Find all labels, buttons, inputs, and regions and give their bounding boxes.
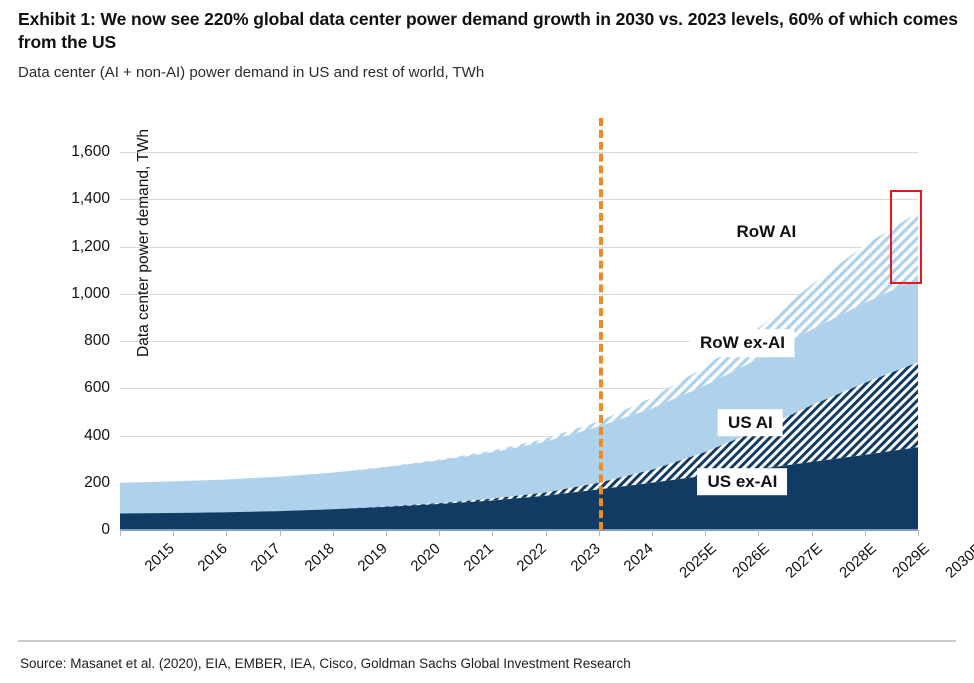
x-tick-label: 2017	[248, 540, 284, 575]
x-tick-label: 2027E	[783, 540, 827, 582]
series-callout-us-ex-ai: US ex-AI	[697, 468, 787, 496]
x-tick-mark	[492, 530, 493, 536]
row-ai-highlight-box	[890, 190, 922, 284]
y-tick-label: 600	[84, 379, 110, 397]
x-tick-label: 2022	[514, 540, 550, 575]
page-title: Exhibit 1: We now see 220% global data c…	[18, 8, 958, 55]
x-tick-mark	[918, 530, 919, 536]
y-tick-label: 400	[84, 427, 110, 445]
series-callout-row-ex-ai: RoW ex-AI	[690, 330, 795, 358]
x-tick-label: 2028E	[836, 540, 880, 582]
y-tick-label: 1,400	[71, 190, 110, 208]
x-tick-label: 2020	[408, 540, 444, 575]
y-tick-label: 1,200	[71, 238, 110, 256]
x-tick-label: 2021	[461, 540, 497, 575]
x-tick-mark	[599, 530, 600, 536]
plot-area: 02004006008001,0001,2001,4001,600 Data c…	[120, 152, 918, 530]
footer-divider	[18, 640, 956, 642]
year-2024-divider	[599, 118, 603, 530]
y-tick-label: 800	[84, 332, 110, 350]
x-tick-mark	[812, 530, 813, 536]
y-tick-label: 200	[84, 474, 110, 492]
x-tick-label: 2029E	[889, 540, 933, 582]
x-tick-mark	[758, 530, 759, 536]
x-tick-mark	[439, 530, 440, 536]
chart-page: Exhibit 1: We now see 220% global data c…	[0, 0, 974, 683]
page-subtitle: Data center (AI + non-AI) power demand i…	[18, 64, 958, 82]
x-tick-label: 2024	[620, 540, 656, 575]
chart-container: 02004006008001,0001,2001,4001,600 Data c…	[0, 118, 974, 618]
axis-baseline	[120, 529, 918, 531]
y-tick-label: 1,000	[71, 285, 110, 303]
x-tick-label: 2026E	[729, 540, 773, 582]
x-tick-mark	[546, 530, 547, 536]
x-tick-mark	[652, 530, 653, 536]
source-note: Source: Masanet et al. (2020), EIA, EMBE…	[20, 656, 631, 671]
y-tick-label: 1,600	[71, 143, 110, 161]
stacked-areas	[120, 152, 918, 530]
x-tick-mark	[333, 530, 334, 536]
series-callout-row-ai: RoW AI	[726, 219, 806, 247]
x-tick-label: 2025E	[676, 540, 720, 582]
x-tick-label: 2016	[195, 540, 231, 575]
x-tick-label: 2030E	[942, 540, 974, 582]
x-tick-label: 2018	[301, 540, 337, 575]
x-tick-label: 2019	[354, 540, 390, 575]
x-tick-label: 2023	[567, 540, 603, 575]
x-tick-mark	[173, 530, 174, 536]
x-tick-mark	[705, 530, 706, 536]
series-callout-us-ai: US AI	[718, 409, 783, 437]
x-tick-mark	[120, 530, 121, 536]
x-tick-mark	[226, 530, 227, 536]
x-tick-mark	[280, 530, 281, 536]
x-tick-label: 2015	[142, 540, 178, 575]
y-tick-label: 0	[101, 521, 110, 539]
x-tick-mark	[865, 530, 866, 536]
header: Exhibit 1: We now see 220% global data c…	[18, 8, 958, 82]
x-tick-mark	[386, 530, 387, 536]
